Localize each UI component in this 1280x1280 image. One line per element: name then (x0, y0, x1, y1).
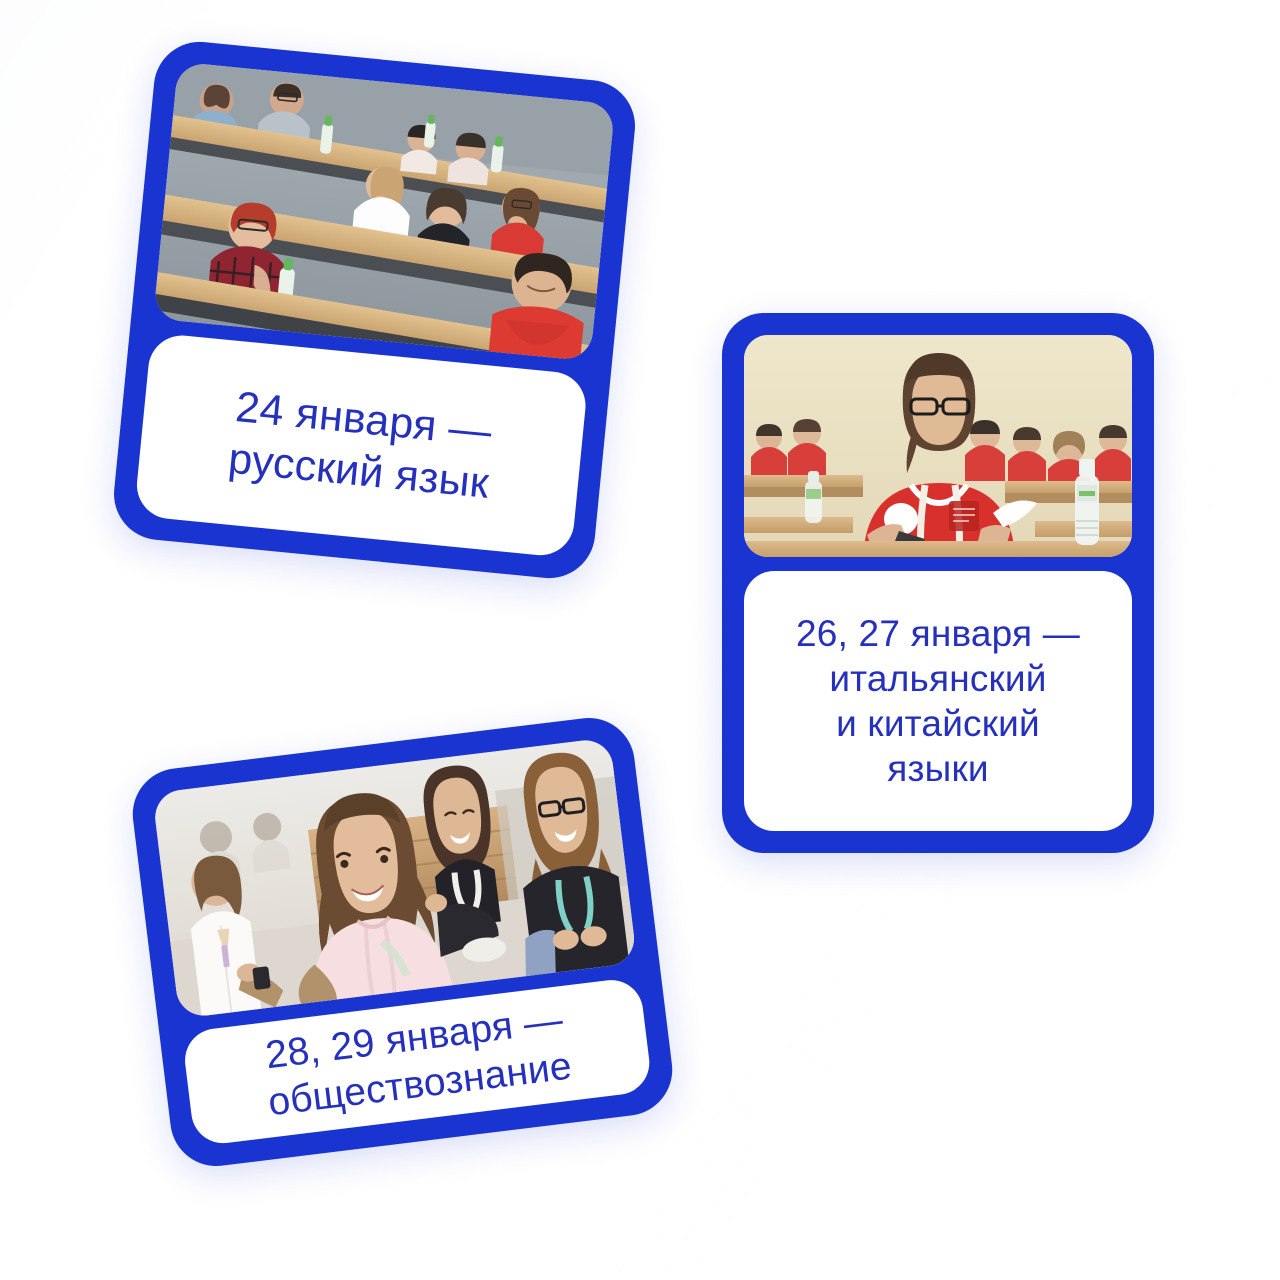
card-languages[interactable]: 26, 27 января — итальянский и китайский … (722, 313, 1154, 853)
card-caption-text: 26, 27 января — итальянский и китайский … (796, 611, 1080, 792)
exam-writing-students-photo (744, 335, 1132, 557)
exam-hall-illustration (744, 335, 1132, 557)
lecture-hall-students-photo (153, 62, 615, 362)
students-group-illustration (152, 737, 637, 1018)
lecture-hall-illustration (153, 62, 615, 362)
card-social[interactable]: 28, 29 января — обществознание (128, 713, 678, 1172)
card-caption-panel: 26, 27 января — итальянский и китайский … (744, 571, 1132, 831)
smiling-students-group-photo (152, 737, 637, 1018)
card-caption-text: 24 января — русский язык (226, 380, 496, 510)
card-russian[interactable]: 24 января — русский язык (110, 38, 639, 583)
card-caption-panel: 24 января — русский язык (134, 332, 589, 558)
card-caption-text: 28, 29 января — обществознание (260, 996, 575, 1128)
